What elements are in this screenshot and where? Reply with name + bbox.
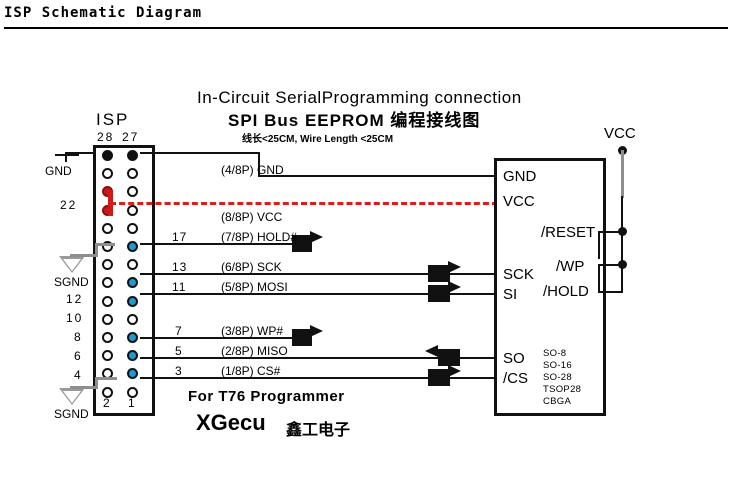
label-pin-6: 6 bbox=[74, 349, 81, 363]
chip-pin-hold: /HOLD bbox=[543, 283, 589, 300]
wire-wp-arrow-tail bbox=[292, 329, 312, 346]
heading-line-2: SPI Bus EEPROM 编程接线图 bbox=[228, 112, 480, 129]
wire-hold-drop bbox=[598, 264, 600, 293]
chip-package-so8: SO-8 bbox=[543, 348, 566, 359]
sgnd-upper-wire-h bbox=[70, 254, 98, 257]
isp-pin-left-10 bbox=[102, 314, 113, 325]
wire-miso-arrow bbox=[425, 345, 438, 357]
chip-pin-reset: /RESET bbox=[541, 224, 595, 241]
label-pin-8: 8 bbox=[74, 330, 81, 344]
label-pin-10: 10 bbox=[66, 311, 83, 325]
wire-miso-arrow-tail bbox=[438, 349, 460, 366]
chip-pin-sck: SCK bbox=[503, 266, 534, 283]
signal-label-mosi: (5/8P) MOSI bbox=[221, 280, 288, 294]
chip-pin-cs: /CS bbox=[503, 370, 528, 387]
chip-package-cbga: CBGA bbox=[543, 396, 571, 407]
connector-pin-2: 2 bbox=[103, 396, 112, 410]
chip-pin-wp: /WP bbox=[556, 258, 584, 275]
isp-pin-right-10 bbox=[127, 314, 138, 325]
label-sgnd-upper: SGND bbox=[54, 275, 89, 289]
sgnd-lower-wire-h bbox=[70, 386, 98, 389]
window-title-bar: ISP Schematic Diagram bbox=[0, 0, 732, 28]
wire-vcc-dashed bbox=[110, 202, 498, 205]
reset-junction-dot bbox=[618, 227, 627, 236]
isp-pin-left-5 bbox=[102, 223, 113, 234]
signal-label-sck: (6/8P) SCK bbox=[221, 260, 282, 274]
sgnd-upper-triangle-inner bbox=[63, 259, 81, 271]
chip-package-so28: SO-28 bbox=[543, 372, 572, 383]
branding-logo-cn: 鑫工电子 bbox=[286, 416, 350, 440]
sgnd-lower-wire-h2 bbox=[95, 377, 117, 380]
wire-gnd-seg1 bbox=[140, 152, 260, 154]
wire-mosi-arrow-tail bbox=[428, 285, 450, 302]
title-divider bbox=[4, 27, 728, 29]
signal-label-vcc: (8/8P) VCC bbox=[221, 210, 282, 224]
wire-sck-arrow bbox=[448, 261, 461, 273]
chip-package-so16: SO-16 bbox=[543, 360, 572, 371]
wire-mosi-arrow bbox=[448, 281, 461, 293]
page-title: ISP Schematic Diagram bbox=[4, 5, 202, 21]
wp-junction-dot bbox=[618, 260, 627, 269]
signal-label-hold: (7/8P) HOLD# bbox=[221, 230, 297, 244]
isp-pin-left-1 bbox=[102, 150, 113, 161]
wire-pin-11: 11 bbox=[172, 280, 186, 294]
connector-pin-27: 27 bbox=[122, 130, 139, 144]
chip-pin-so: SO bbox=[503, 350, 525, 367]
label-pin-22: 22 bbox=[60, 198, 77, 212]
isp-pin-right-9 bbox=[127, 296, 138, 307]
heading-line-1: In-Circuit SerialProgramming connection bbox=[197, 89, 522, 106]
isp-pin-right-11 bbox=[127, 332, 138, 343]
sgnd-upper-wire-h2 bbox=[95, 243, 115, 246]
isp-pin-right-6 bbox=[127, 241, 138, 252]
signal-label-miso: (2/8P) MISO bbox=[221, 344, 288, 358]
isp-pin-right-4 bbox=[127, 205, 138, 216]
chip-pin-gnd: GND bbox=[503, 168, 536, 185]
branding-logo: XGecu bbox=[196, 410, 266, 436]
label-gnd: GND bbox=[45, 164, 72, 178]
wire-gnd-seg3 bbox=[258, 175, 496, 177]
signal-label-cs: (1/8P) CS# bbox=[221, 364, 280, 378]
connector-pin-28: 28 bbox=[97, 130, 114, 144]
gnd-wire bbox=[65, 152, 95, 154]
branding-line-1: For T76 Programmer bbox=[188, 388, 345, 405]
schematic-canvas: In-Circuit SerialProgramming connection … bbox=[0, 30, 732, 478]
wire-hold-arrow bbox=[310, 231, 323, 243]
gnd-bar bbox=[55, 154, 79, 156]
isp-pin-left-11 bbox=[102, 332, 113, 343]
chip-pin-vcc: VCC bbox=[503, 193, 535, 210]
signal-label-gnd: (4/8P) GND bbox=[221, 163, 284, 177]
wire-hold-branch bbox=[598, 291, 623, 293]
signal-label-wp: (3/8P) WP# bbox=[221, 324, 283, 338]
wire-cs-arrow-tail bbox=[428, 369, 450, 386]
vcc-rail-label: VCC bbox=[604, 126, 636, 141]
isp-pin-right-5 bbox=[127, 223, 138, 234]
wire-pin-5: 5 bbox=[175, 344, 183, 358]
label-sgnd-lower: SGND bbox=[54, 407, 89, 421]
chip-pin-si: SI bbox=[503, 286, 517, 303]
label-pin-4: 4 bbox=[74, 368, 81, 382]
label-pin-12: 12 bbox=[66, 292, 83, 306]
gnd-stem bbox=[65, 154, 67, 162]
wire-cs-arrow bbox=[448, 365, 461, 377]
heading-line-3: 线长<25CM, Wire Length <25CM bbox=[242, 135, 393, 145]
chip-package-tsop28: TSOP28 bbox=[543, 384, 581, 395]
connector-title: ISP bbox=[96, 111, 129, 128]
vcc-rail-black-seg bbox=[621, 196, 623, 292]
wire-pin-3: 3 bbox=[175, 364, 183, 378]
wire-pin-7: 7 bbox=[175, 324, 183, 338]
wire-pin-13: 13 bbox=[172, 260, 187, 274]
isp-pin-left-9 bbox=[102, 296, 113, 307]
sgnd-lower-triangle-inner bbox=[63, 391, 81, 403]
wire-reset-drop bbox=[598, 231, 600, 259]
connector-pin-1: 1 bbox=[128, 396, 137, 410]
vcc-rail-gray-seg bbox=[621, 150, 624, 198]
isp-pin-right-1 bbox=[127, 150, 138, 161]
wire-sck-arrow-tail bbox=[428, 265, 450, 282]
wire-wp-arrow bbox=[310, 325, 323, 337]
wire-pin-17: 17 bbox=[172, 230, 187, 244]
